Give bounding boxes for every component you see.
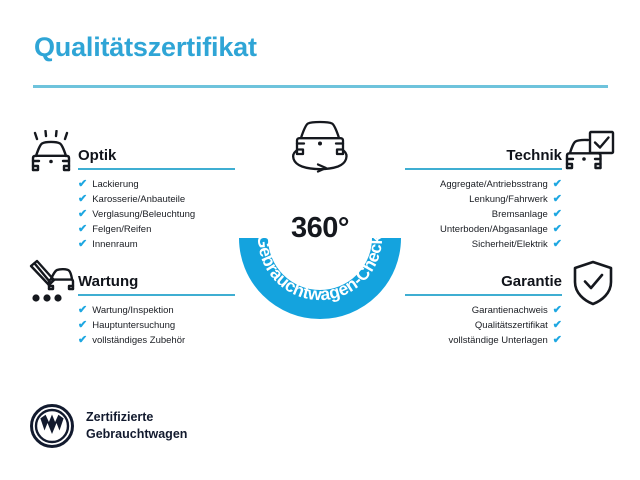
section-technik-header: Technik bbox=[405, 140, 562, 170]
check-icon: ✔ bbox=[553, 239, 562, 250]
section-garantie-divider bbox=[405, 294, 562, 296]
car-shine-icon bbox=[24, 130, 78, 180]
checklist-item-label: Hauptuntersuchung bbox=[92, 318, 175, 333]
checklist-item-label: Lackierung bbox=[92, 177, 138, 192]
check-icon: ✔ bbox=[553, 335, 562, 346]
checklist-item-label: vollständige Unterlagen bbox=[448, 333, 547, 348]
checklist-item: ✔Innenraum bbox=[78, 237, 235, 252]
checklist-item: ✔Garantienachweis bbox=[405, 303, 562, 318]
checklist-item-label: Garantienachweis bbox=[472, 303, 548, 318]
check-icon: ✔ bbox=[553, 305, 562, 316]
checklist-item-label: Verglasung/Beleuchtung bbox=[92, 207, 195, 222]
checklist-item-label: Sicherheit/Elektrik bbox=[472, 237, 548, 252]
volkswagen-certified-text: Zertifizierte Gebrauchtwagen bbox=[86, 409, 187, 443]
car-checkbox-icon bbox=[562, 130, 616, 180]
section-optik: Optik ✔Lackierung✔Karosserie/Anbauteile✔… bbox=[78, 140, 235, 252]
badge-360-gebrauchtwagen-check: Gebrauchtwagen-Check 360° bbox=[232, 150, 408, 326]
checklist-item-label: Unterboden/Abgasanlage bbox=[440, 222, 548, 237]
section-technik-divider bbox=[405, 168, 562, 170]
checklist-item-label: Wartung/Inspektion bbox=[92, 303, 174, 318]
check-icon: ✔ bbox=[553, 209, 562, 220]
checklist-item: ✔Wartung/Inspektion bbox=[78, 303, 235, 318]
checklist-item: ✔Qualitätszertifikat bbox=[405, 318, 562, 333]
checklist-item: ✔Bremsanlage bbox=[405, 207, 562, 222]
check-icon: ✔ bbox=[78, 335, 87, 346]
checklist-item: ✔Aggregate/Antriebsstrang bbox=[405, 177, 562, 192]
checklist-item: ✔vollständige Unterlagen bbox=[405, 333, 562, 348]
section-wartung-divider bbox=[78, 294, 235, 296]
wrench-car-service-icon bbox=[24, 258, 78, 308]
checklist-item-label: vollständiges Zubehör bbox=[92, 333, 185, 348]
checklist-item-label: Felgen/Reifen bbox=[92, 222, 151, 237]
section-garantie: Garantie ✔Garantienachweis✔Qualitätszert… bbox=[405, 266, 562, 348]
check-icon: ✔ bbox=[78, 224, 87, 235]
certificate-page: Qualitätszertifikat bbox=[0, 0, 640, 480]
check-icon: ✔ bbox=[78, 305, 87, 316]
checklist-item-label: Aggregate/Antriebsstrang bbox=[440, 177, 548, 192]
checklist-item: ✔Felgen/Reifen bbox=[78, 222, 235, 237]
section-wartung-title: Wartung bbox=[78, 273, 138, 290]
vw-text-line-1: Zertifizierte bbox=[86, 409, 187, 426]
check-icon: ✔ bbox=[553, 179, 562, 190]
checklist-item-label: Innenraum bbox=[92, 237, 137, 252]
badge-center-label: 360° bbox=[232, 212, 408, 245]
check-icon: ✔ bbox=[553, 224, 562, 235]
section-wartung-list: ✔Wartung/Inspektion✔Hauptuntersuchung✔vo… bbox=[78, 303, 235, 348]
section-optik-divider bbox=[78, 168, 235, 170]
vw-text-line-2: Gebrauchtwagen bbox=[86, 426, 187, 443]
section-optik-header: Optik bbox=[78, 140, 235, 170]
checklist-item: ✔vollständiges Zubehör bbox=[78, 333, 235, 348]
section-garantie-title: Garantie bbox=[501, 273, 562, 290]
checklist-item-label: Lenkung/Fahrwerk bbox=[469, 192, 548, 207]
checklist-item: ✔Lackierung bbox=[78, 177, 235, 192]
page-title: Qualitätszertifikat bbox=[34, 32, 257, 63]
header: Qualitätszertifikat bbox=[0, 0, 640, 92]
check-icon: ✔ bbox=[78, 209, 87, 220]
checklist-item: ✔Karosserie/Anbauteile bbox=[78, 192, 235, 207]
section-garantie-header: Garantie bbox=[405, 266, 562, 296]
checklist-item: ✔Lenkung/Fahrwerk bbox=[405, 192, 562, 207]
car-rotate-360-icon bbox=[282, 118, 358, 178]
section-optik-list: ✔Lackierung✔Karosserie/Anbauteile✔Vergla… bbox=[78, 177, 235, 252]
check-icon: ✔ bbox=[78, 179, 87, 190]
section-technik-list: ✔Aggregate/Antriebsstrang✔Lenkung/Fahrwe… bbox=[405, 177, 562, 252]
section-technik-title: Technik bbox=[506, 147, 562, 164]
section-garantie-list: ✔Garantienachweis✔Qualitätszertifikat✔vo… bbox=[405, 303, 562, 348]
check-icon: ✔ bbox=[78, 194, 87, 205]
section-optik-title: Optik bbox=[78, 147, 116, 164]
checklist-item: ✔Hauptuntersuchung bbox=[78, 318, 235, 333]
shield-check-icon bbox=[566, 258, 620, 308]
checklist-item: ✔Unterboden/Abgasanlage bbox=[405, 222, 562, 237]
check-icon: ✔ bbox=[553, 194, 562, 205]
checklist-item-label: Bremsanlage bbox=[492, 207, 548, 222]
section-wartung: Wartung ✔Wartung/Inspektion✔Hauptuntersu… bbox=[78, 266, 235, 348]
checklist-item-label: Qualitätszertifikat bbox=[475, 318, 548, 333]
check-icon: ✔ bbox=[553, 320, 562, 331]
section-technik: Technik ✔Aggregate/Antriebsstrang✔Lenkun… bbox=[405, 140, 562, 252]
check-icon: ✔ bbox=[78, 239, 87, 250]
header-divider bbox=[33, 85, 608, 88]
checklist-item: ✔Verglasung/Beleuchtung bbox=[78, 207, 235, 222]
checklist-item: ✔Sicherheit/Elektrik bbox=[405, 237, 562, 252]
checklist-item-label: Karosserie/Anbauteile bbox=[92, 192, 185, 207]
check-icon: ✔ bbox=[78, 320, 87, 331]
volkswagen-logo-icon bbox=[30, 404, 74, 448]
section-wartung-header: Wartung bbox=[78, 266, 235, 296]
